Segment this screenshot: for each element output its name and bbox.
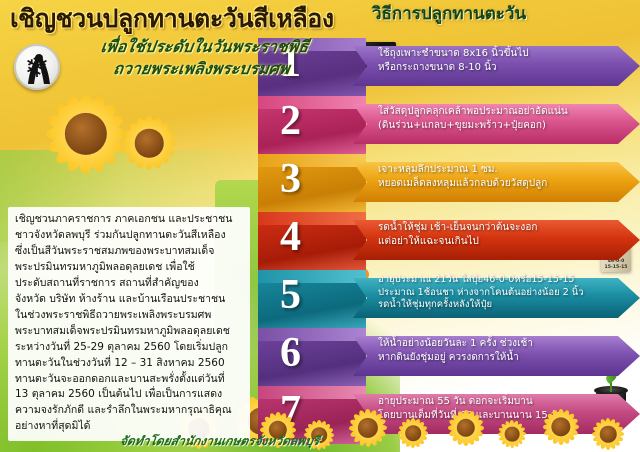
sunflower-bottom-7	[540, 406, 582, 448]
sunflower-bottom-3	[346, 406, 390, 450]
step-5-line-2: ประมาณ 1ช้อนชา ห่างจากโคนต้นอย่างน้อย 2 …	[378, 287, 622, 300]
sunflower-bottom-4	[396, 416, 430, 450]
announcement-lines: เชิญชวนภาคราชการ ภาคเอกชน และประชาชนชาวจ…	[15, 212, 244, 435]
step-4: 4 รดน้ำให้ชุ่ม เช้า-เย็นจนกว่าต้นจะงอก แ…	[258, 212, 640, 270]
step-5-text: อายุประมาณ 21วัน ใส่ปุ๋ย46-0-0หรือ15-15-…	[378, 274, 622, 312]
announcement-line-12: 13 ตุลาคม 2560 เป็นต้นไป เพื่อเป็นการแสด…	[15, 387, 244, 403]
steps-section-title: วิธีการปลูกทานตะวัน	[372, 6, 526, 23]
sunflower-bottom-8	[590, 416, 626, 452]
announcement-line-10: ทานตะวันในช่วงวันที่ 12 – 31 สิงหาคม 256…	[15, 356, 244, 372]
step-5: 5 อายุประมาณ 21วัน ใส่ปุ๋ย46-0-0หรือ15-1…	[258, 270, 640, 328]
step-3: 3 เจาะหลุมลึกประมาณ 1 ซม. หยอดเมล็ดลงหลุ…	[258, 154, 640, 212]
page-subtitle: เพื่อใช้ประดับในวันพระราชพิธี ถวายพระเพล…	[45, 36, 361, 79]
subtitle-line-1: เพื่อใช้ประดับในวันพระราชพิธี	[48, 36, 361, 58]
step-2-line-1: ใส่วัสดุปลูกคลุกเคล้าพอประมาณอย่าอัดแน่น	[378, 105, 622, 119]
sunflower-center	[405, 425, 421, 441]
announcement-line-5: ประดับสถานที่ราชการ สถานที่สำคัญของ	[15, 276, 244, 292]
sunflower-illustration-small	[118, 112, 180, 174]
announcement-line-1: เชิญชวนภาคราชการ ภาคเอกชน และประชาชน	[15, 212, 244, 228]
step-4-line-1: รดน้ำให้ชุ่ม เช้า-เย็นจนกว่าต้นจะงอก	[378, 221, 622, 235]
step-4-number-block	[258, 212, 366, 270]
step-6: 6 ให้น้ำอย่างน้อยวันละ 1 ครั้ง ช่วงเช้า …	[258, 328, 640, 386]
step-5-line-1: อายุประมาณ 21วัน ใส่ปุ๋ย46-0-0หรือ15-15-…	[378, 274, 622, 287]
step-6-text: ให้น้ำอย่างน้อยวันละ 1 ครั้ง ช่วงเช้า หา…	[378, 337, 622, 364]
step-6-number: 6	[280, 332, 301, 374]
step-2-text: ใส่วัสดุปลูกคลุกเคล้าพอประมาณอย่าอัดแน่น…	[378, 105, 622, 132]
step-1-text: ใช้ถุงเพาะชำขนาด 8x16 นิ้วขึ้นไป หรือกระ…	[378, 47, 622, 74]
subtitle-line-2: ถวายพระเพลิงพระบรมศพ	[45, 58, 358, 80]
sunflower-bottom-5	[446, 408, 486, 448]
page-title: เชิญชวนปลูกทานตะวันสีเหลือง	[10, 6, 365, 31]
announcement-line-3: ซึ่งเป็นสีวันพระราชสมภพของพระบาทสมเด็จ	[15, 244, 244, 260]
credit-line: จัดทำโดยสำนักงานเกษตรจังหวัดลพบุรี	[118, 432, 321, 451]
announcement-line-2: ชาวจังหวัดลพบุรี ร่วมกันปลูกทานตะวันสีเห…	[15, 228, 244, 244]
step-1-line-1: ใช้ถุงเพาะชำขนาด 8x16 นิ้วขึ้นไป	[378, 47, 622, 61]
step-4-number: 4	[280, 216, 301, 258]
announcement-line-11: ทานตะวันจะออกดอกและบานสะพรั่งตั้งแต่วันท…	[15, 372, 244, 388]
infographic-poster: ❄ เชิญชวนปลูกทานตะวันสีเหลือง เพื่อใช้ปร…	[0, 0, 640, 452]
sunflower-center	[600, 426, 617, 443]
announcement-line-8: พระบาทสมเด็จพระปรมินทรมหาภูมิพลอดุลยเดช	[15, 324, 244, 340]
announcement-line-6: จังหวัด บริษัท ห้างร้าน และบ้านเรือนประช…	[15, 292, 244, 308]
step-5-number: 5	[280, 274, 301, 316]
announcement-line-9: ระหว่างวันที่ 25-29 ตุลาคม 2560 โดยเริ่ม…	[15, 340, 244, 356]
step-5-number-block	[258, 270, 366, 328]
mourning-ribbon-icon: ❄	[14, 44, 60, 90]
step-3-number-block	[258, 154, 366, 212]
step-4-text: รดน้ำให้ชุ่ม เช้า-เย็นจนกว่าต้นจะงอก แต่…	[378, 221, 622, 248]
sunflower-center	[505, 427, 520, 442]
sunflower-bottom-6	[496, 418, 528, 450]
announcement-line-4: พระปรมินทรมหาภูมิพลอดุลยเดช เพื่อใช้	[15, 260, 244, 276]
step-6-line-2: หากดินยังชุ่มอยู่ ควรงดการให้น้ำ	[378, 351, 622, 365]
step-4-line-2: แต่อย่าให้แฉะจนเกินไป	[378, 235, 622, 249]
step-1-line-2: หรือกระถางขนาด 8-10 นิ้ว	[378, 61, 622, 75]
step-3-text: เจาะหลุมลึกประมาณ 1 ซม. หยอดเมล็ดลงหลุมแ…	[378, 163, 622, 190]
announcement-text-panel: เชิญชวนภาคราชการ ภาคเอกชน และประชาชนชาวจ…	[8, 207, 250, 441]
step-5-line-3: รดน้ำให้ชุ่มทุกครั้งหลังให้ปุ๋ย	[378, 299, 622, 312]
step-3-line-1: เจาะหลุมลึกประมาณ 1 ซม.	[378, 163, 622, 177]
step-3-number: 3	[280, 158, 301, 200]
announcement-line-7: ในช่วงพระราชพิธีถวายพระเพลิงพระบรมศพ	[15, 308, 244, 324]
step-2-line-2: (ดินร่วน+แกลบ+ขุยมะพร้าว+ปุ๋ยคอก)	[378, 119, 622, 133]
step-2-number-block	[258, 96, 366, 154]
step-3-line-2: หยอดเมล็ดลงหลุมแล้วกลบด้วยวัสดุปลูก	[378, 177, 622, 191]
step-2-number: 2	[280, 100, 301, 142]
announcement-line-13: ความจงรักภักดี และรำลึกในพระมหากรุณาธิคุ…	[15, 403, 244, 419]
step-6-line-1: ให้น้ำอย่างน้อยวันละ 1 ครั้ง ช่วงเช้า	[378, 337, 622, 351]
step-2: 2 ใส่วัสดุปลูกคลุกเคล้าพอประมาณอย่าอัดแน…	[258, 96, 640, 154]
step-6-number-block	[258, 328, 366, 386]
sunflower-center	[135, 129, 164, 158]
